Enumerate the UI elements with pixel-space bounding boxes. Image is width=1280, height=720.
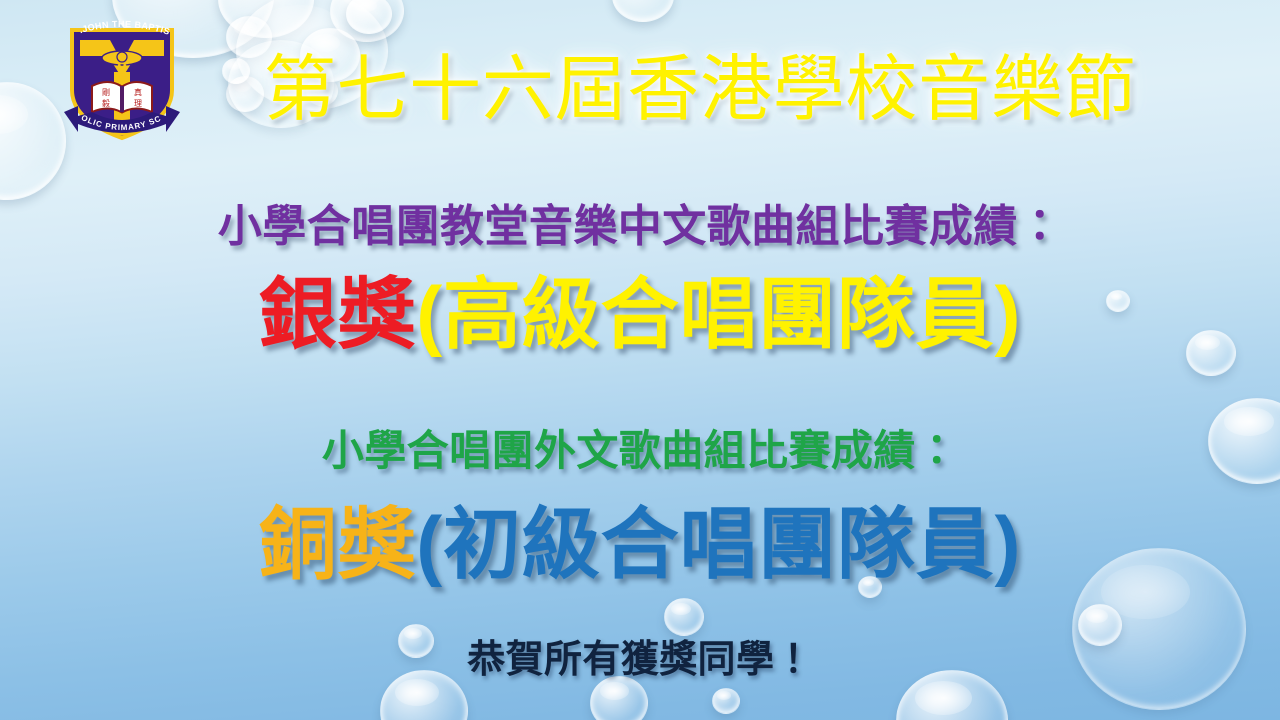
award-grade-1: 銀獎 bbox=[259, 270, 417, 358]
bubble-decoration bbox=[712, 688, 740, 714]
award-grade-2: 銅獎 bbox=[259, 500, 417, 588]
bubble-decoration bbox=[346, 0, 392, 34]
result-category-1: 小學合唱團教堂音樂中文歌曲組比賽成績： bbox=[0, 190, 1280, 254]
award-detail-1: (高級合唱團隊員) bbox=[416, 270, 1021, 358]
award-detail-2: (初級合唱團隊員) bbox=[416, 500, 1021, 588]
result-category-2: 小學合唱團外文歌曲組比賽成績： bbox=[0, 417, 1280, 478]
congratulations-text: 恭賀所有獲獎同學！ bbox=[0, 628, 1280, 683]
result-award-1: 銀獎(高級合唱團隊員) bbox=[0, 252, 1280, 364]
page-title: 第七十六屆香港學校音樂節 bbox=[0, 30, 1280, 135]
result-award-2: 銅獎(初級合唱團隊員) bbox=[0, 482, 1280, 594]
bubble-decoration bbox=[612, 0, 674, 22]
presentation-slide: 剛 毅 真 理 ST.JOHN THE BAPTIST CATHOLIC PRI… bbox=[0, 0, 1280, 720]
